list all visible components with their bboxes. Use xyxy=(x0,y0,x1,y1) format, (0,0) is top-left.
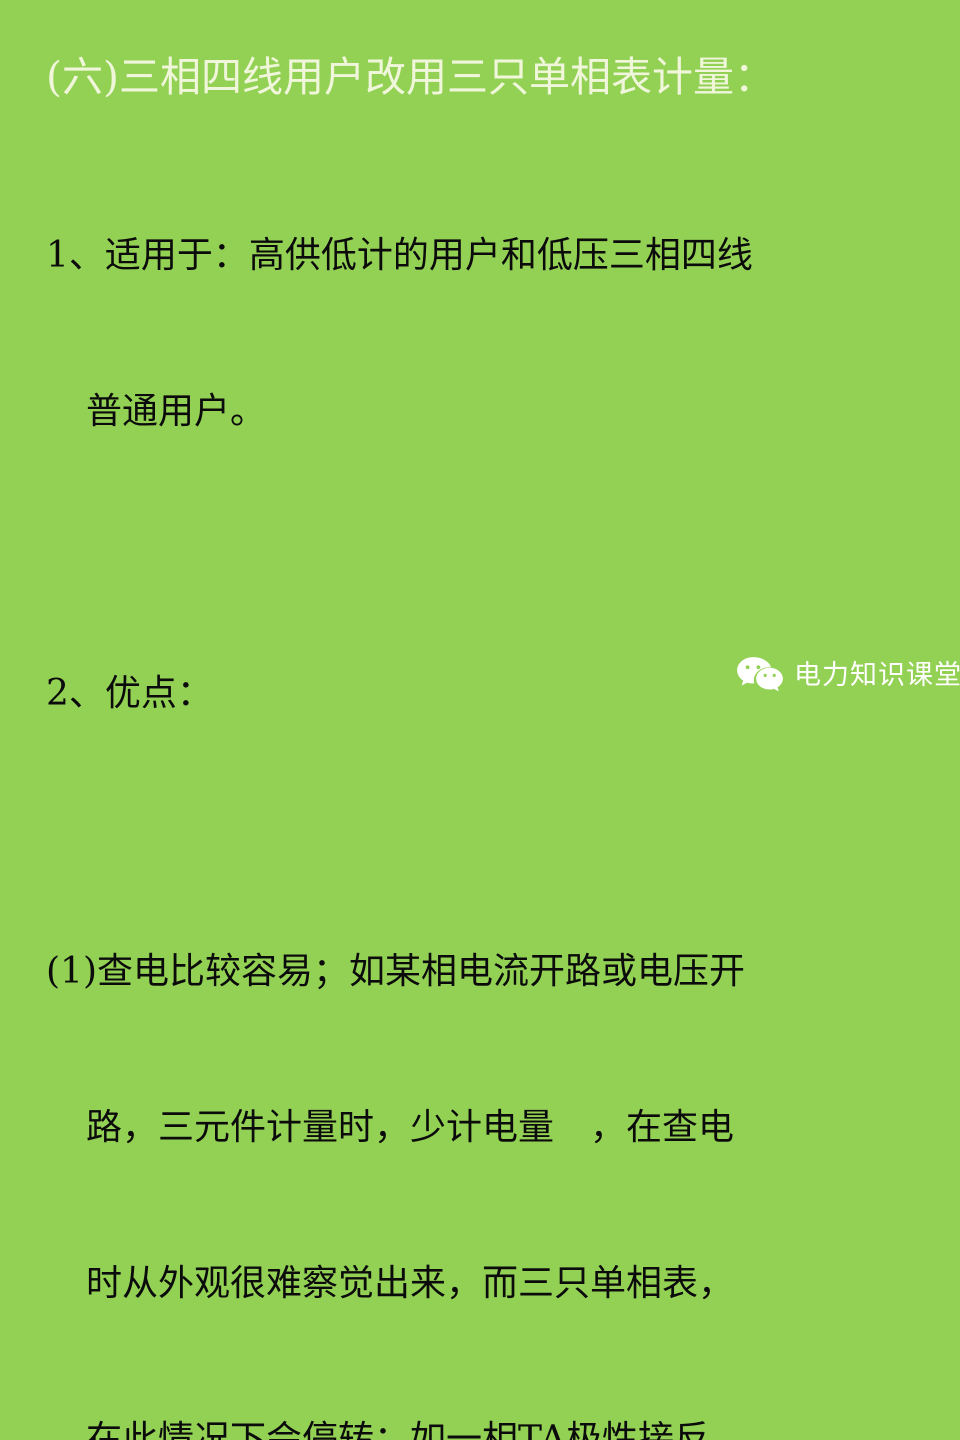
slide-body: 1、适用于：高供低计的用户和低压三相四线 普通用户。 2、优点： (1)查电比较… xyxy=(46,126,930,1440)
body-line: (1)查电比较容易；如某相电流开路或电压开 xyxy=(46,946,930,998)
body-paragraph-point-1: (1)查电比较容易；如某相电流开路或电压开 路，三元件计量时，少计电量 ，在查电… xyxy=(46,842,930,1440)
body-paragraph-item-1: 1、适用于：高供低计的用户和低压三相四线 普通用户。 xyxy=(46,126,930,542)
watermark-label: 电力知识课堂 xyxy=(794,660,960,692)
body-line: 1、适用于：高供低计的用户和低压三相四线 xyxy=(46,230,930,282)
body-line: 时从外观很难察觉出来，而三只单相表， xyxy=(46,1258,930,1310)
wechat-logo-icon xyxy=(735,655,785,697)
slide-canvas: (六)三相四线用户改用三只单相表计量： 1、适用于：高供低计的用户和低压三相四线… xyxy=(0,0,960,720)
body-line: 在此情况下会停转；如一相TA极性接反， xyxy=(46,1414,930,1440)
slide-title: (六)三相四线用户改用三只单相表计量： xyxy=(46,52,926,102)
body-line: 普通用户。 xyxy=(46,386,930,438)
body-line: 路，三元件计量时，少计电量 ，在查电 xyxy=(46,1102,930,1154)
watermark: 电力知识课堂 xyxy=(735,650,945,702)
